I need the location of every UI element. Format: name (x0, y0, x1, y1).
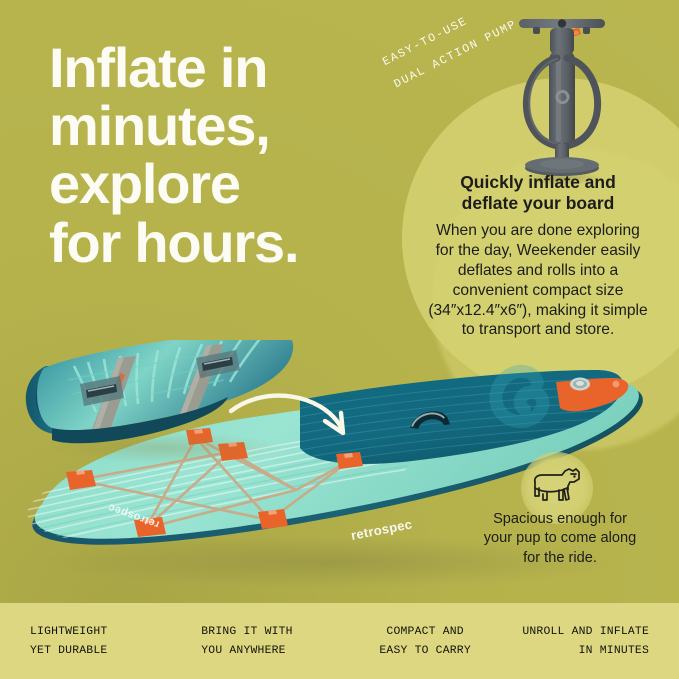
d-ring (258, 509, 288, 529)
feature-item: LIGHTWEIGHT YET DURABLE (0, 621, 179, 661)
pump-callout-heading: Quickly inflate and deflate your board (414, 172, 662, 215)
headline: Inflate in minutes, explore for hours. (49, 39, 379, 272)
retrospec-spiral-logo (492, 369, 545, 426)
feature-list: LIGHTWEIGHT YET DURABLE BRING IT WITH YO… (0, 603, 679, 679)
pump-callout-body: When you are done exploring for the day,… (414, 221, 662, 341)
feature-item: COMPACT AND EASY TO CARRY (351, 621, 500, 661)
tail-accent-dot (613, 381, 620, 388)
rolled-board (26, 340, 293, 464)
hand-pump-icon (500, 6, 620, 184)
air-valve (570, 378, 590, 391)
product-feature-image: Inflate in minutes, explore for hours. E… (0, 0, 679, 679)
dog-icon (529, 466, 585, 510)
d-ring (336, 452, 363, 469)
feature-item: BRING IT WITH YOU ANYWHERE (179, 621, 350, 661)
dog-caption: Spacious enough for your pup to come alo… (470, 510, 650, 568)
pump-callout-text: Quickly inflate and deflate your board W… (414, 172, 662, 340)
feature-band: LIGHTWEIGHT YET DURABLE BRING IT WITH YO… (0, 603, 679, 679)
feature-item: UNROLL AND INFLATE IN MINUTES (500, 621, 679, 661)
